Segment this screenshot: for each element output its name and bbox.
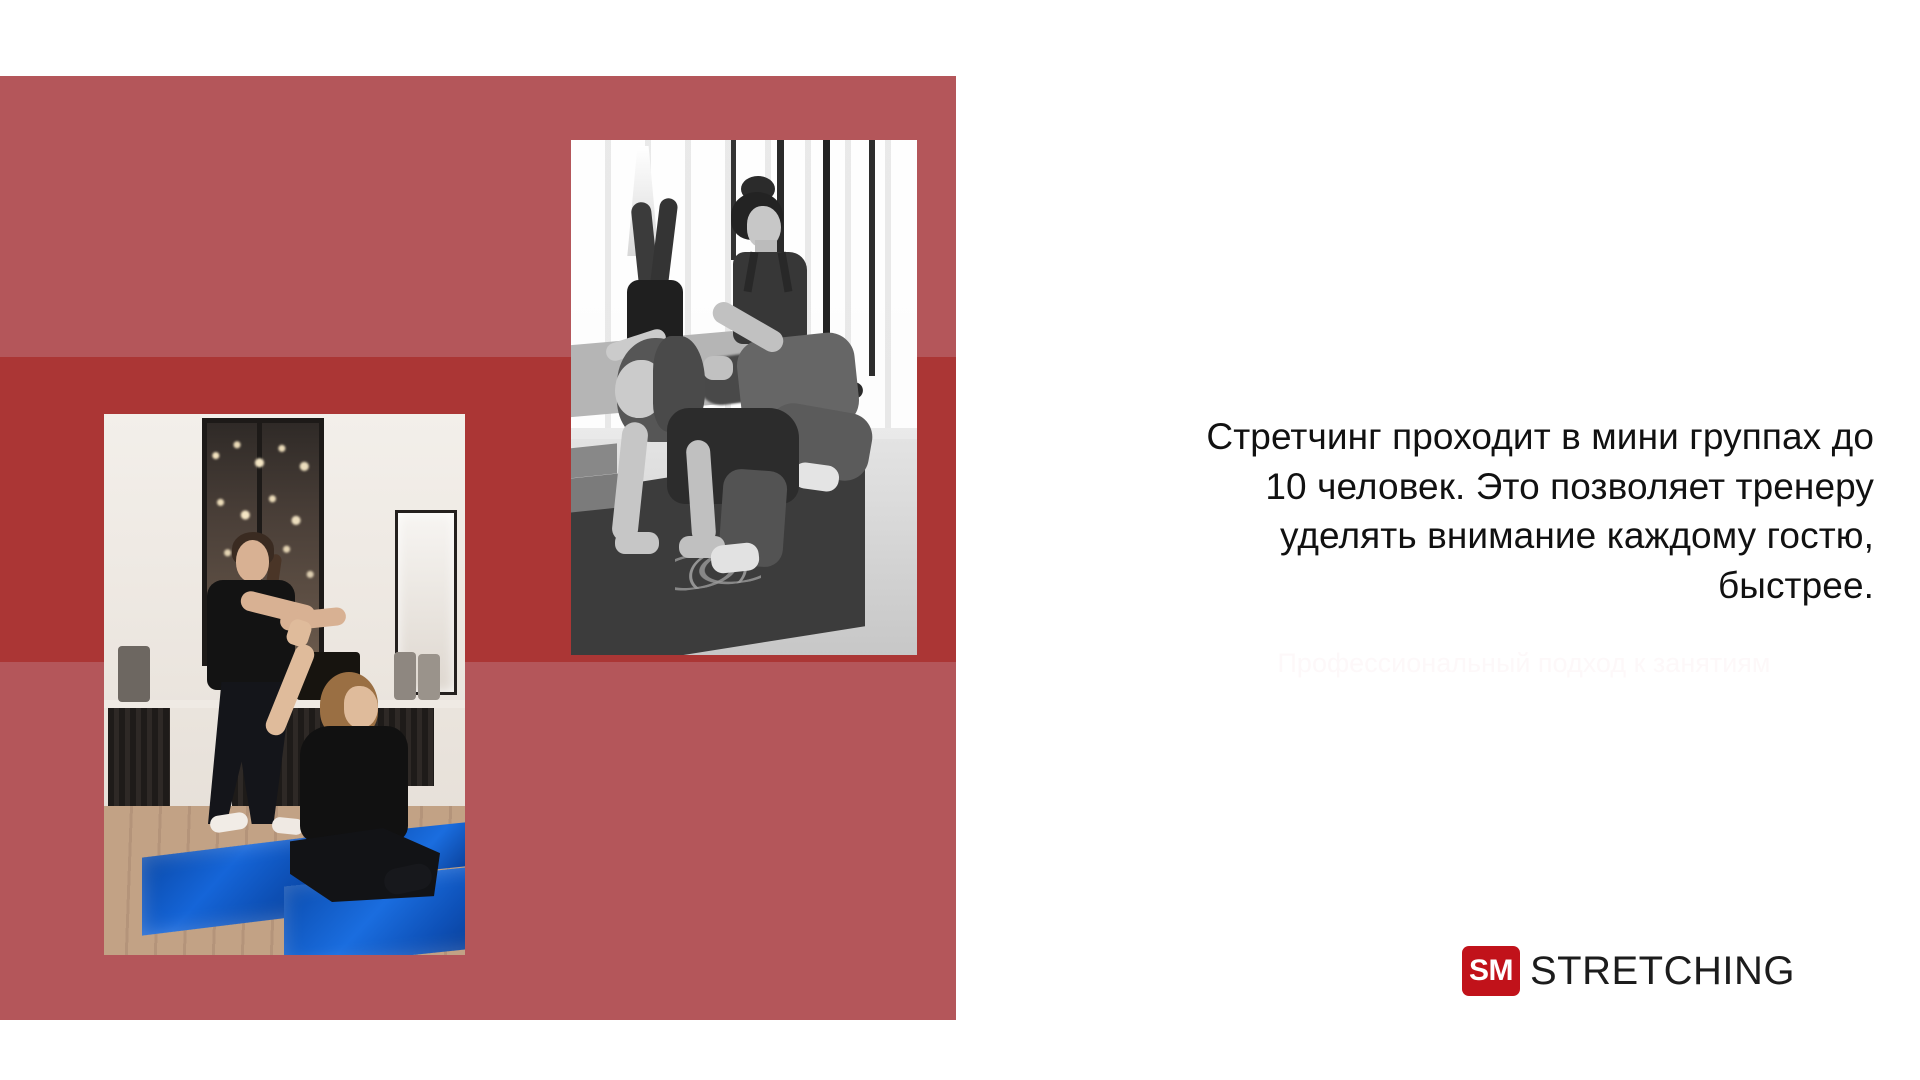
photo-right-trainer-hand [703,356,733,380]
logo-wordmark-stretching: STRETCHING [1530,949,1795,994]
photo-left-trainer-head [236,540,269,582]
logo-badge-sm: SM [1462,946,1520,996]
photo-right-studio-grayscale [571,140,917,655]
photo-right-pole-c [869,140,875,376]
photo-left-pillow-c [394,652,416,700]
photo-left-guest-body [300,726,408,842]
photo-left-pillow-a [118,646,150,702]
photo-right-canvas [571,140,917,655]
brand-logo: SM STRETCHING [1462,946,1795,996]
headline-block: Стретчинг проходит в мини группах до 10 … [1174,412,1874,610]
photo-left-studio-stretching [104,414,465,955]
photo-left-pillow-d [418,654,440,700]
photo-left-canvas [104,414,465,955]
photo-right-guest-hand-a [615,532,659,554]
photo-left-guest-face [344,686,378,728]
ghost-subtitle-text: Профессиональный подход к занятиям [1174,646,1874,681]
photo-right-pole-d [731,140,736,260]
headline-text: Стретчинг проходит в мини группах до 10 … [1174,412,1874,610]
photo-left-radiator-a [108,708,170,806]
slide-canvas: Стретчинг проходит в мини группах до 10 … [0,0,1920,1080]
